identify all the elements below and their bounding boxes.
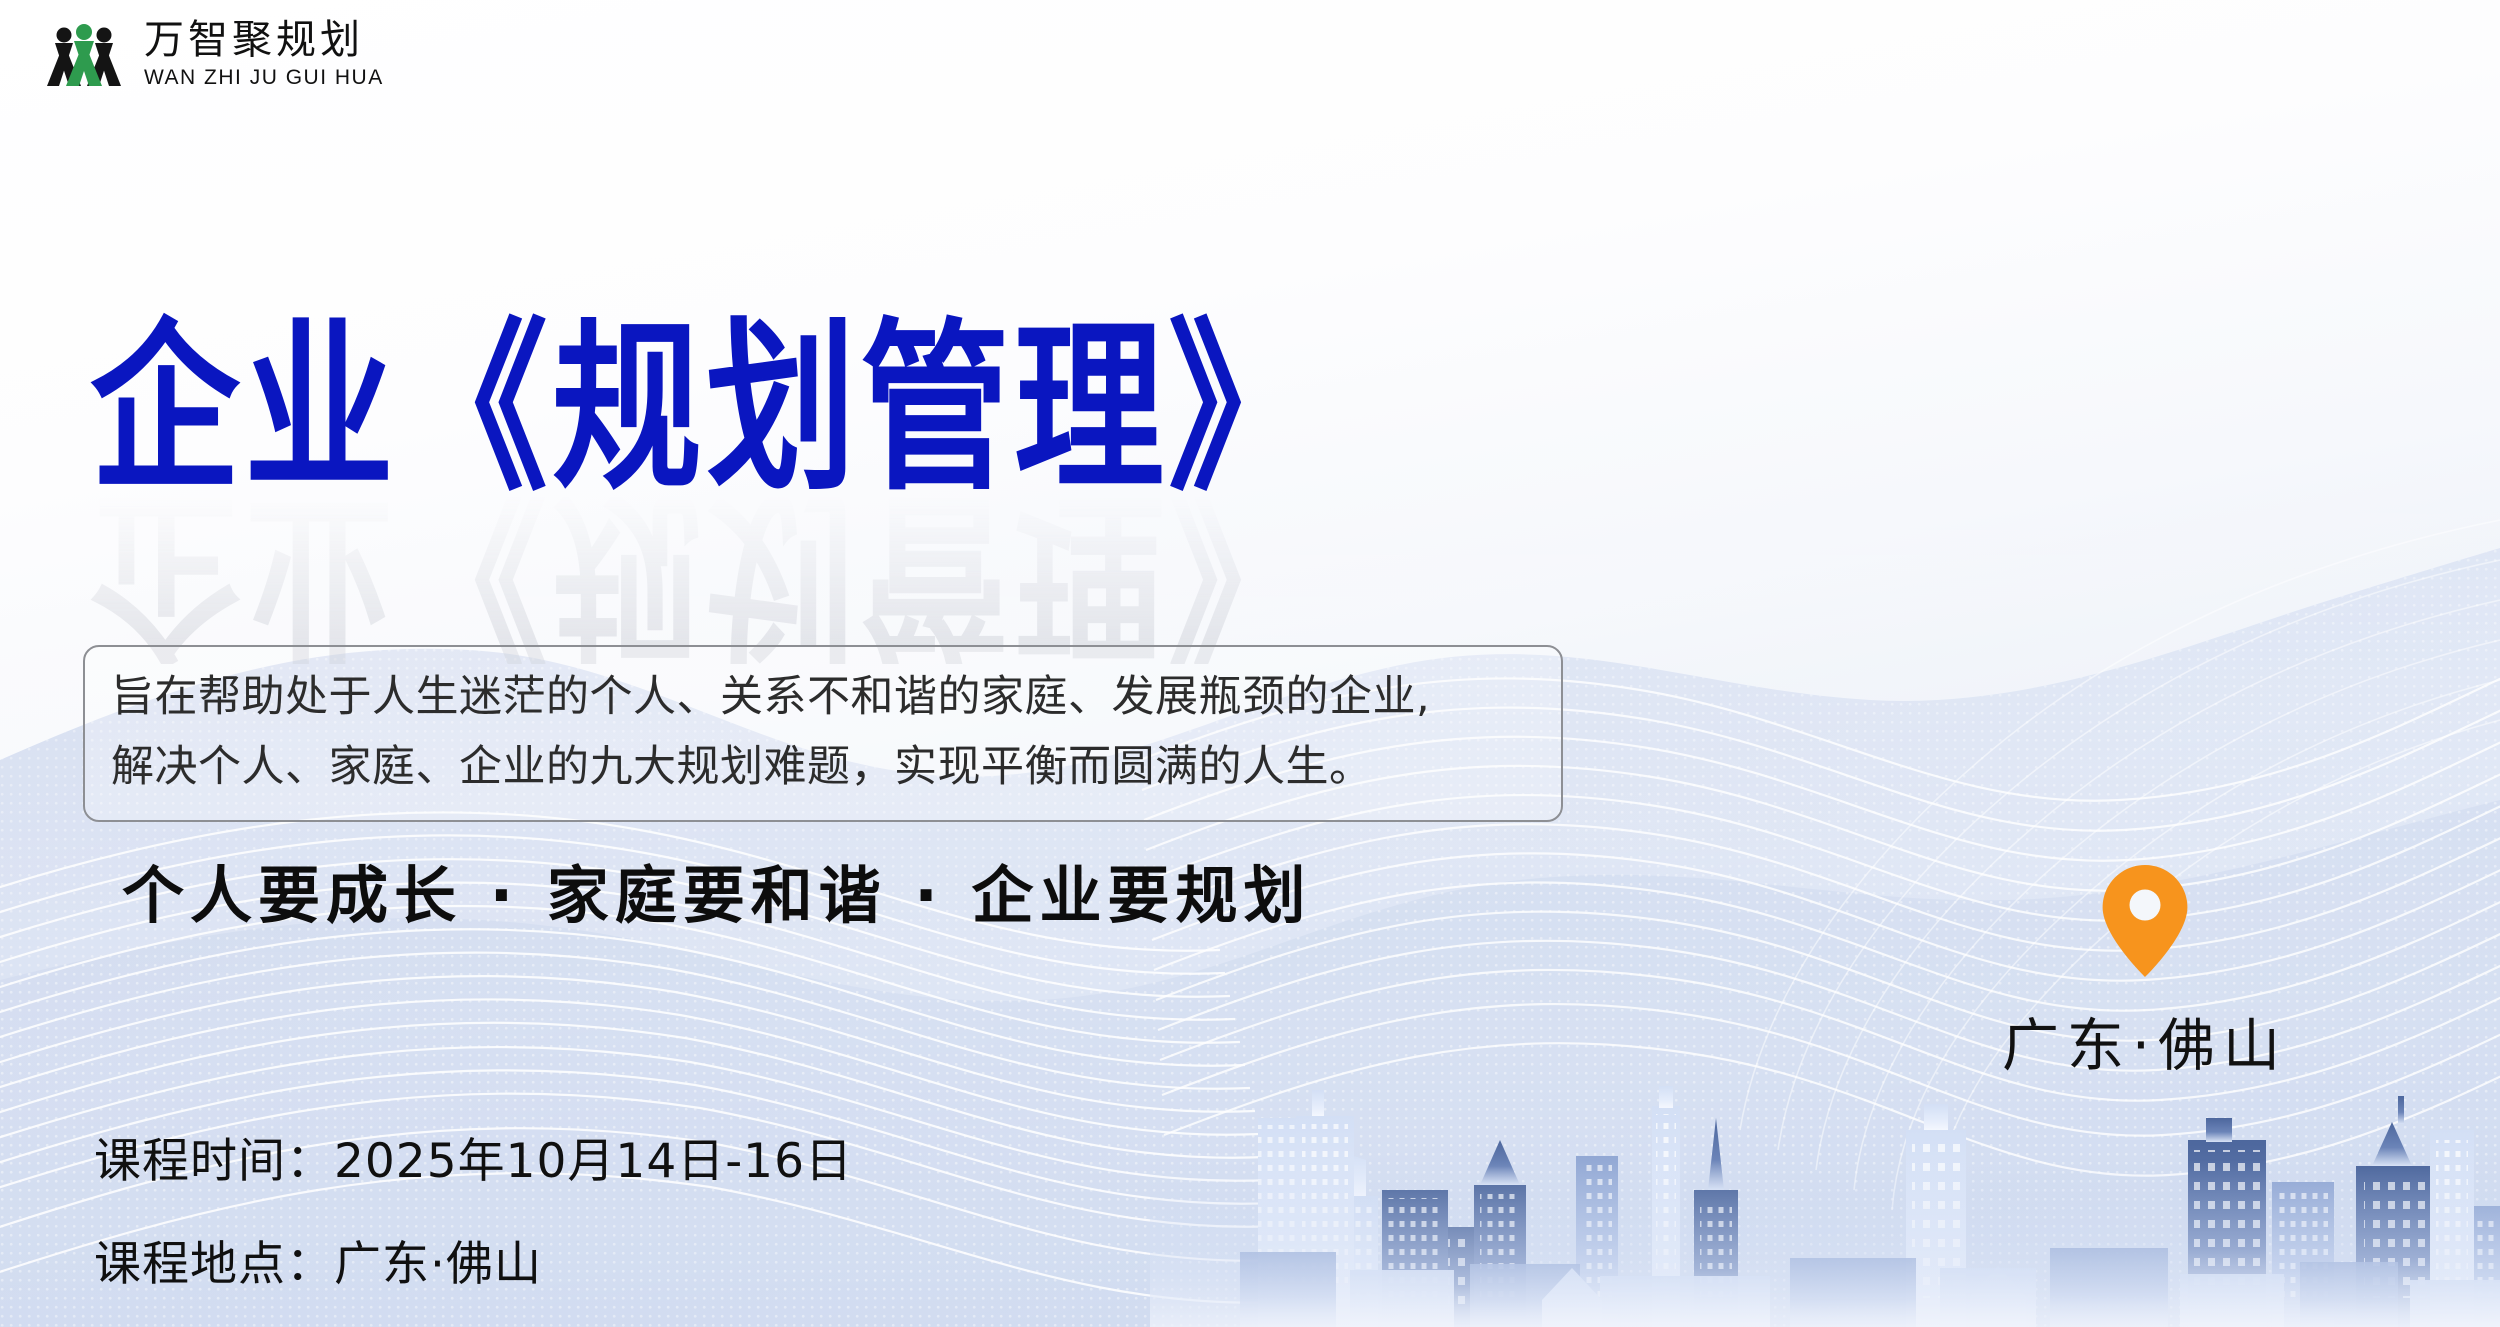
slogan-text: 个人要成长 · 家庭要和谐 · 企业要规划	[122, 845, 1311, 935]
map-pin-icon	[2099, 862, 2191, 980]
location-label: 广东·佛山	[1955, 1000, 2335, 1082]
brand-logo[interactable]: 万智聚规划 WAN ZHI JU GUI HUA	[42, 18, 384, 90]
description-line-2: 解决个人、家庭、企业的九大规划难题，实现平衡而圆满的人生。	[111, 733, 1535, 803]
three-people-mountain-logo-icon	[42, 18, 126, 90]
description-line-1: 旨在帮助处于人生迷茫的个人、关系不和谐的家庭、发展瓶颈的企业,	[111, 663, 1535, 733]
description-box: 旨在帮助处于人生迷茫的个人、关系不和谐的家庭、发展瓶颈的企业, 解决个人、家庭、…	[83, 645, 1563, 822]
poster-canvas: 万智聚规划 WAN ZHI JU GUI HUA 企业《规划管理》 企业《规划管…	[0, 0, 2500, 1327]
page-title: 企业《规划管理》	[90, 318, 1322, 501]
course-time: 课程时间：2025年10月14日-16日	[94, 1122, 853, 1191]
brand-name-cn: 万智聚规划	[144, 20, 384, 60]
page-title-reflection: 企业《规划管理》	[90, 481, 1322, 664]
course-info-block: 课程时间：2025年10月14日-16日 课程地点：广东·佛山	[94, 1122, 853, 1294]
course-place: 课程地点：广东·佛山	[94, 1225, 853, 1294]
brand-name-en: WAN ZHI JU GUI HUA	[144, 67, 384, 88]
location-group: 广东·佛山	[1955, 862, 2335, 1082]
